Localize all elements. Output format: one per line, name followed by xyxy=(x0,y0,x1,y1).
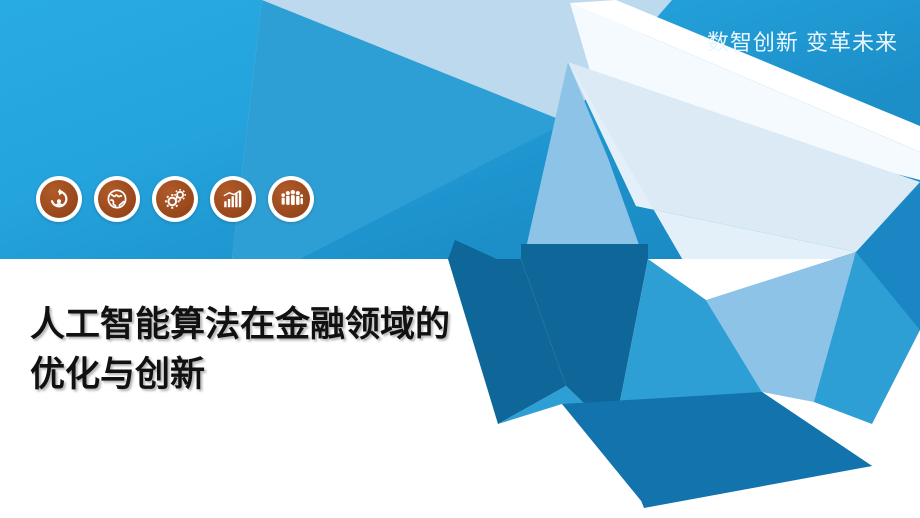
icon-disc xyxy=(156,180,194,218)
icon-badge-globe[interactable] xyxy=(94,176,140,222)
icon-badge-team-people[interactable] xyxy=(268,176,314,222)
icon-disc xyxy=(40,180,78,218)
page-title: 人工智能算法在金融领域的 优化与创新 xyxy=(30,300,550,400)
poly-dark-band-core xyxy=(521,244,648,259)
header-tagline: 数智创新 变革未来 xyxy=(707,28,898,58)
globe-icon xyxy=(106,188,128,210)
icon-disc xyxy=(98,180,136,218)
icon-badge-refresh-cycle[interactable] xyxy=(36,176,82,222)
team-people-icon xyxy=(280,188,303,211)
icon-disc xyxy=(272,180,310,218)
slide-root: 数智创新 变革未来 xyxy=(0,0,920,518)
gears-icon xyxy=(164,188,187,211)
icon-badge-bar-chart[interactable] xyxy=(210,176,256,222)
icon-badge-gears[interactable] xyxy=(152,176,198,222)
low-poly-artwork xyxy=(0,0,920,518)
bar-chart-icon xyxy=(222,188,244,210)
title-line-1: 人工智能算法在金融领域的 xyxy=(30,305,450,344)
refresh-cycle-icon xyxy=(48,188,70,210)
title-line-2: 优化与创新 xyxy=(30,350,550,400)
icon-row xyxy=(36,176,314,222)
icon-disc xyxy=(214,180,252,218)
